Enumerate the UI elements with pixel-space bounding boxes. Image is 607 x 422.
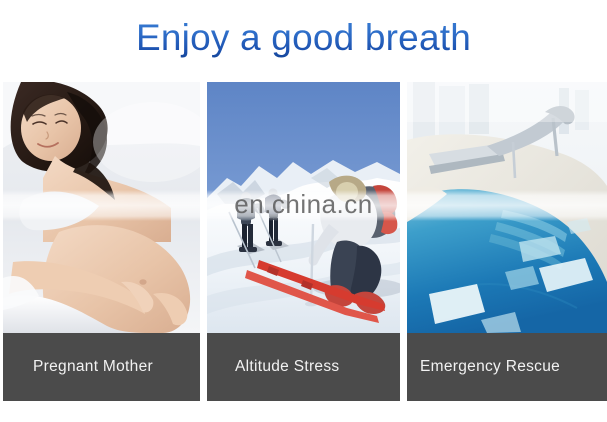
page-title: Enjoy a good breath [0, 14, 607, 62]
promo-banner: Enjoy a good breath [0, 0, 607, 422]
feature-card-altitude-stress[interactable]: Altitude Stress [207, 82, 400, 401]
caption-label: Pregnant Mother [33, 358, 153, 376]
feature-panel-list: Pregnant Mother [3, 82, 607, 401]
caption-label: Altitude Stress [235, 358, 339, 376]
feature-card-emergency-rescue[interactable]: Emergency Rescue [407, 82, 607, 401]
emergency-rescue-photo [407, 82, 607, 333]
caption-bar-pregnant-mother: Pregnant Mother [3, 333, 200, 401]
caption-label: Emergency Rescue [420, 358, 560, 376]
caption-bar-emergency-rescue: Emergency Rescue [407, 333, 607, 401]
caption-bar-altitude-stress: Altitude Stress [207, 333, 400, 401]
altitude-stress-photo [207, 82, 400, 333]
feature-card-pregnant-mother[interactable]: Pregnant Mother [3, 82, 200, 401]
pregnant-mother-photo [3, 82, 200, 333]
